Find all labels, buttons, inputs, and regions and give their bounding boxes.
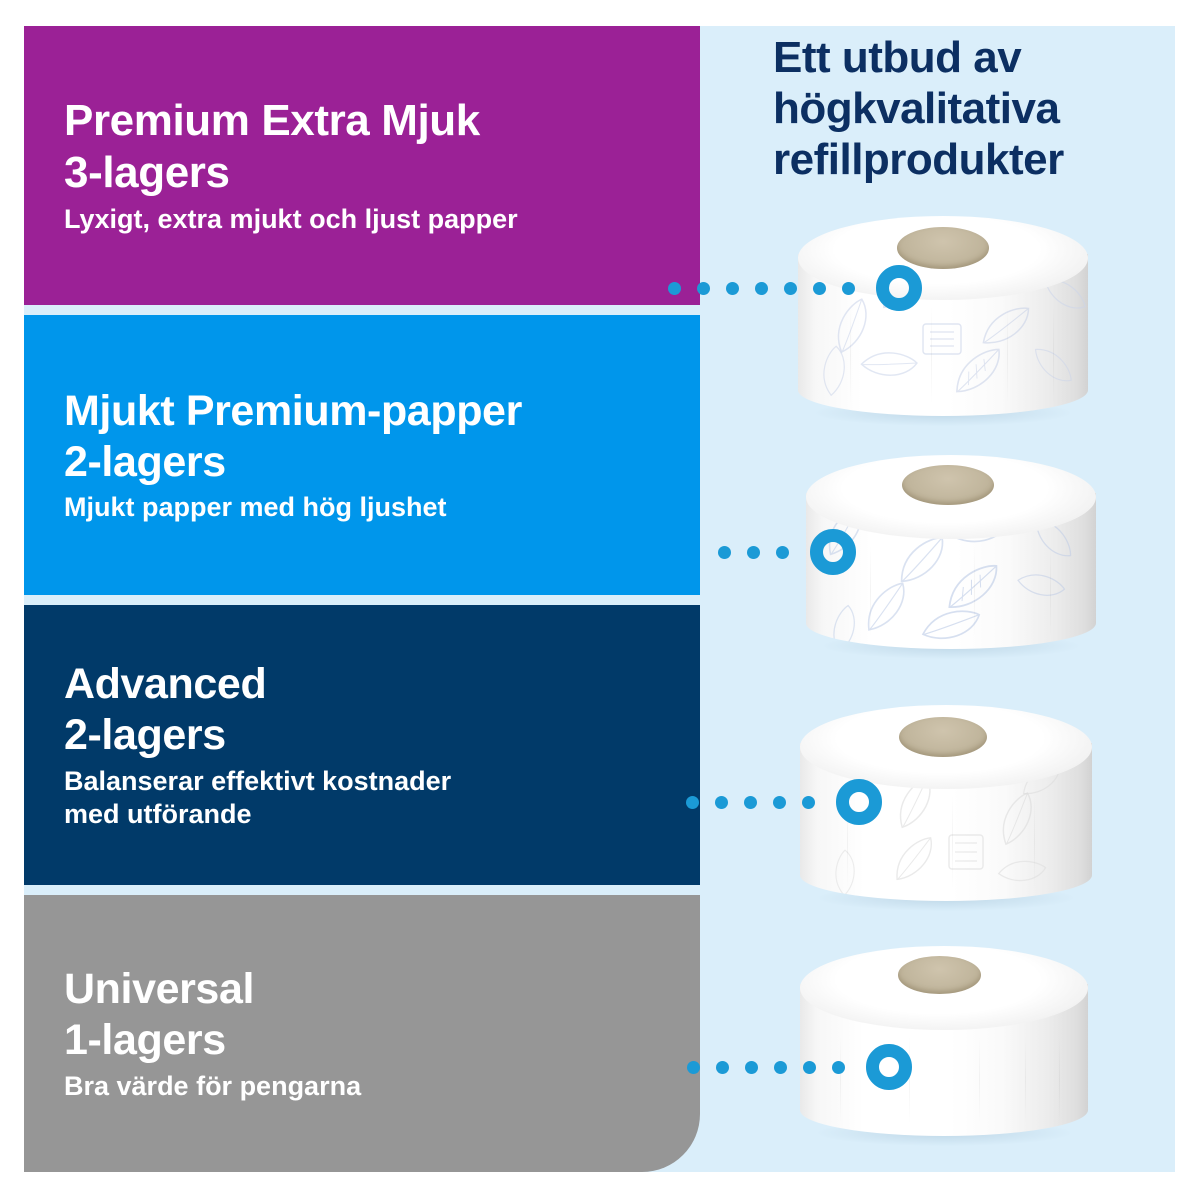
band-title: Universal 1-lagers — [64, 964, 680, 1065]
connector-dot-icon — [745, 1061, 758, 1074]
leaf-emboss-icon — [883, 833, 945, 886]
connector-dot-icon — [668, 282, 681, 295]
leaf-emboss-icon — [975, 304, 1036, 349]
band-title: Premium Extra Mjuk 3-lagers — [64, 95, 680, 199]
connector-ring-marker-icon — [876, 265, 922, 311]
connector-dot-icon — [802, 796, 815, 809]
band-subtitle: Bra värde för pengarna — [64, 1070, 680, 1103]
connector-dot-icon — [687, 1061, 700, 1074]
connector-dot-icon — [726, 282, 739, 295]
connector-dot-icon — [747, 546, 760, 559]
band-subtitle: Lyxigt, extra mjukt och ljust papper — [64, 203, 680, 236]
band-universal[interactable]: Universal 1-lagers Bra värde för pengarn… — [24, 895, 700, 1172]
connector-dot-icon — [813, 282, 826, 295]
header: Ett utbud av högkvalitativa refillproduk… — [773, 32, 1173, 185]
connector-dot-icon — [715, 796, 728, 809]
band-mjukt-premium-papper[interactable]: Mjukt Premium-papper 2-lagers Mjukt papp… — [24, 315, 700, 595]
product-roll-universal — [800, 946, 1088, 1136]
band-title: Mjukt Premium-papper 2-lagers — [64, 386, 680, 487]
leaf-emboss-icon — [806, 342, 861, 401]
brand-emboss-icon — [920, 320, 964, 358]
connector-dot-icon — [774, 1061, 787, 1074]
connector-line-4 — [687, 1044, 912, 1090]
connector-ring-marker-icon — [810, 529, 856, 575]
band-subtitle: Mjukt papper med hög ljushet — [64, 491, 680, 524]
connector-dot-icon — [697, 282, 710, 295]
leaf-emboss-icon — [856, 334, 922, 393]
connector-dot-icon — [744, 796, 757, 809]
connector-line-1 — [668, 265, 922, 311]
band-subtitle: Balanserar effektivt kostnader med utför… — [64, 765, 680, 831]
leaf-emboss-icon — [821, 846, 871, 900]
connector-dot-icon — [773, 796, 786, 809]
connector-line-2 — [718, 529, 856, 575]
connector-line-3 — [686, 779, 882, 825]
connector-dot-icon — [832, 1061, 845, 1074]
connector-dot-icon — [784, 282, 797, 295]
leaf-emboss-icon — [994, 846, 1049, 895]
connector-ring-marker-icon — [836, 779, 882, 825]
roll-core-hole — [902, 465, 995, 505]
connector-ring-marker-icon — [866, 1044, 912, 1090]
band-advanced[interactable]: Advanced 2-lagers Balanserar effektivt k… — [24, 605, 700, 885]
connector-dot-icon — [803, 1061, 816, 1074]
leaf-emboss-icon — [1012, 557, 1069, 613]
product-roll-premium-extra-mjuk — [798, 216, 1088, 416]
infographic-stage: Ett utbud av högkvalitativa refillproduk… — [0, 0, 1200, 1200]
connector-dot-icon — [776, 546, 789, 559]
roll-core-hole — [897, 227, 990, 269]
band-title: Advanced 2-lagers — [64, 659, 680, 760]
roll-core-hole — [898, 956, 982, 994]
band-premium-extra-mjuk[interactable]: Premium Extra Mjuk 3-lagers Lyxigt, extr… — [24, 26, 700, 305]
roll-core-hole — [899, 717, 987, 757]
connector-dot-icon — [842, 282, 855, 295]
page-title: Ett utbud av högkvalitativa refillproduk… — [773, 32, 1173, 185]
connector-dot-icon — [755, 282, 768, 295]
connector-dot-icon — [716, 1061, 729, 1074]
connector-dot-icon — [686, 796, 699, 809]
connector-dot-icon — [718, 546, 731, 559]
